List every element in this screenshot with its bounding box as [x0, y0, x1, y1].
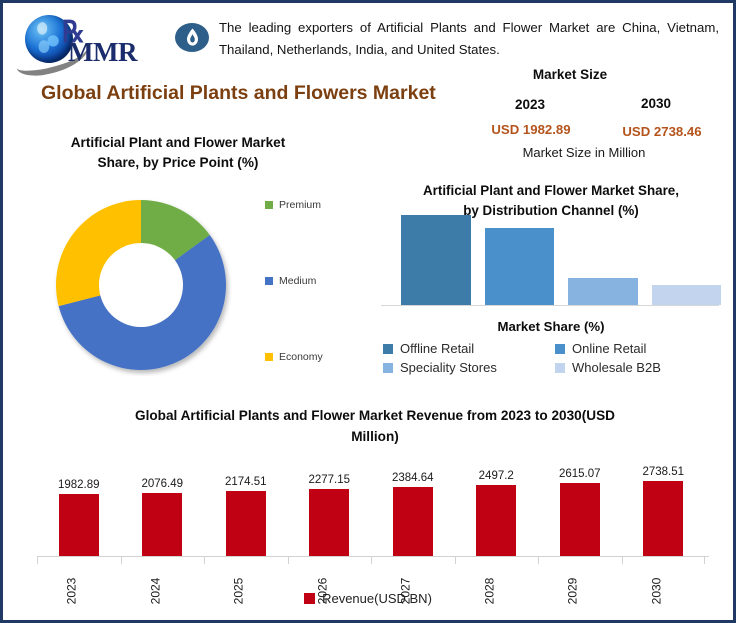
channel-swatch-speciality-stores: [383, 363, 393, 373]
channel-legend-label-online-retail: Online Retail: [572, 341, 646, 356]
channel-swatch-offline-retail: [383, 344, 393, 354]
revenue-column: 2277.15: [288, 443, 372, 556]
channel-title-line1: Artificial Plant and Flower Market Share…: [375, 181, 727, 201]
revenue-legend-label: Revenue(USD BN): [322, 591, 432, 606]
channel-legend-item-offline-retail: Offline Retail: [383, 341, 547, 356]
revenue-title-line1: Global Artificial Plants and Flower Mark…: [95, 405, 655, 426]
revenue-legend: Revenue(USD BN): [3, 591, 733, 606]
channel-legend-item-wholesale-b2b: Wholesale B2B: [555, 360, 719, 375]
logo-text: MMR: [68, 37, 137, 68]
channel-legend-label-speciality-stores: Speciality Stores: [400, 360, 497, 375]
revenue-column: 2738.51: [622, 443, 706, 556]
market-size-value-2030: USD 2738.46: [603, 124, 721, 139]
channel-bar-chart: [401, 215, 721, 305]
revenue-bar: [560, 483, 600, 556]
channel-bar-online-retail: [485, 228, 555, 305]
header-description: The leading exporters of Artificial Plan…: [219, 17, 719, 61]
revenue-legend-swatch: [304, 593, 315, 604]
revenue-value-label: 2174.51: [225, 476, 267, 488]
channel-swatch-online-retail: [555, 344, 565, 354]
header-bar: ℞ MMR The leading exporters of Artificia…: [3, 3, 733, 69]
revenue-column: 1982.89: [37, 443, 121, 556]
channel-legend-label-offline-retail: Offline Retail: [400, 341, 474, 356]
revenue-bar: [142, 493, 182, 556]
flame-droplet-icon: [175, 23, 209, 52]
price-point-donut-chart: [50, 194, 232, 376]
donut-chart-title: Artificial Plant and Flower Market Share…: [33, 133, 323, 173]
revenue-bar: [59, 494, 99, 556]
legend-label-premium: Premium: [279, 199, 321, 211]
market-size-value-2023: USD 1982.89: [476, 122, 586, 137]
revenue-value-label: 2738.51: [642, 466, 684, 478]
infographic-frame: ℞ MMR The leading exporters of Artificia…: [0, 0, 736, 623]
revenue-value-label: 1982.89: [58, 479, 100, 491]
legend-swatch-economy: [265, 353, 273, 361]
revenue-column: 2076.49: [121, 443, 205, 556]
mmr-logo: ℞ MMR: [15, 11, 163, 69]
revenue-bar: [476, 485, 516, 556]
channel-bars: [401, 215, 721, 305]
revenue-column: 2174.51: [204, 443, 288, 556]
channel-legend-item-speciality-stores: Speciality Stores: [383, 360, 547, 375]
market-size-title: Market Size: [475, 67, 665, 82]
channel-swatch-wholesale-b2b: [555, 363, 565, 373]
revenue-bars: 1982.892076.492174.512277.152384.642497.…: [37, 443, 705, 556]
channel-legend: Offline Retail Online Retail Speciality …: [383, 341, 719, 375]
market-size-unit-note: Market Size in Million: [489, 145, 679, 160]
channel-legend-title: Market Share (%): [375, 319, 727, 334]
revenue-bar: [226, 491, 266, 556]
page-title: Global Artificial Plants and Flowers Mar…: [41, 82, 436, 105]
market-size-year-2023: 2023: [485, 97, 575, 112]
revenue-column: 2384.64: [371, 443, 455, 556]
donut-hole: [99, 243, 183, 327]
legend-label-economy: Economy: [279, 351, 323, 363]
revenue-value-label: 2615.07: [559, 468, 601, 480]
revenue-bar: [643, 481, 683, 556]
channel-legend-item-online-retail: Online Retail: [555, 341, 719, 356]
revenue-value-label: 2384.64: [392, 472, 434, 484]
legend-item-premium: Premium: [265, 199, 321, 211]
legend-item-economy: Economy: [265, 351, 323, 363]
revenue-value-label: 2076.49: [141, 478, 183, 490]
legend-swatch-premium: [265, 201, 273, 209]
channel-legend-label-wholesale-b2b: Wholesale B2B: [572, 360, 661, 375]
revenue-value-label: 2277.15: [308, 474, 350, 486]
channel-bar-speciality-stores: [568, 278, 638, 305]
revenue-chart-title: Global Artificial Plants and Flower Mark…: [95, 405, 655, 447]
legend-label-medium: Medium: [279, 275, 316, 287]
donut-title-line1: Artificial Plant and Flower Market: [33, 133, 323, 153]
channel-bar-offline-retail: [401, 215, 471, 305]
revenue-bar: [309, 489, 349, 556]
revenue-column: 2615.07: [538, 443, 622, 556]
legend-item-medium: Medium: [265, 275, 316, 287]
revenue-column: 2497.2: [455, 443, 539, 556]
revenue-bar: [393, 487, 433, 556]
donut-legend: Premium Medium Economy: [265, 199, 375, 369]
legend-swatch-medium: [265, 277, 273, 285]
channel-axis-line: [381, 305, 719, 306]
market-size-year-2030: 2030: [611, 96, 701, 111]
channel-bar-wholesale-b2b: [652, 285, 722, 305]
revenue-value-label: 2497.2: [479, 470, 514, 482]
donut-svg: [50, 194, 232, 376]
donut-title-line2: Share, by Price Point (%): [33, 153, 323, 173]
